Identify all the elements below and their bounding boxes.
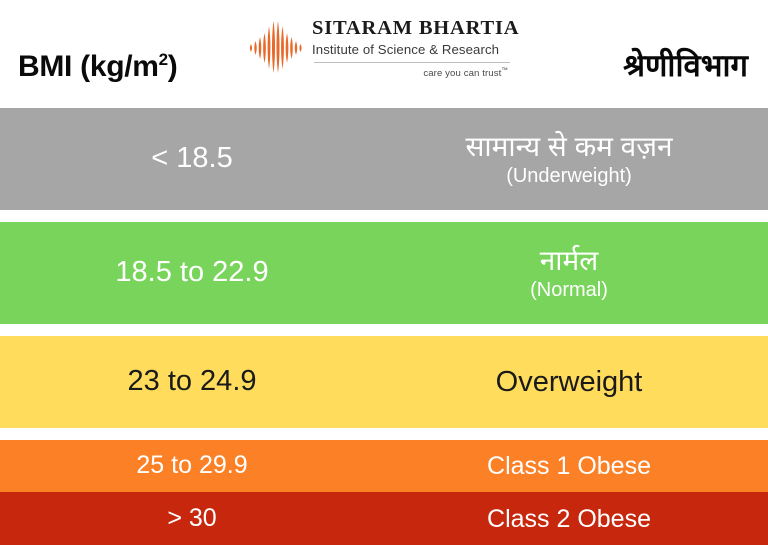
bmi-category-primary: नार्मल [384,244,754,278]
bmi-axis-title-superscript: 2 [159,50,168,69]
bmi-axis-title: BMI (kg/m2) [18,52,178,82]
bmi-band-normal: 18.5 to 22.9 नार्मल (Normal) [0,222,768,324]
bmi-category-label: सामान्य से कम वज़न (Underweight) [384,130,768,188]
sitaram-bhartia-stripes-icon [248,20,306,74]
bmi-band-underweight: < 18.5 सामान्य से कम वज़न (Underweight) [0,108,768,210]
bmi-category-label: नार्मल (Normal) [384,244,768,302]
bmi-range-value: < 18.5 [0,143,384,175]
bmi-category-primary: Class 2 Obese [384,504,754,534]
bmi-band-overweight: 23 to 24.9 Overweight [0,336,768,428]
bmi-category-bands: < 18.5 सामान्य से कम वज़न (Underweight) … [0,108,768,545]
bmi-range-value: > 30 [0,505,384,533]
logo-subtitle: Institute of Science & Research [312,40,514,59]
bmi-band-class-2-obese: > 30 Class 2 Obese [0,492,768,545]
bmi-category-primary: Class 1 Obese [384,451,754,481]
category-column-title: श्रेणीविभाग [623,48,748,84]
bmi-category-primary: सामान्य से कम वज़न [384,130,754,164]
trademark-icon: ™ [501,67,508,74]
logo-tagline-text: care you can trust [423,68,501,79]
logo-name: SITARAM BHARTIA [312,18,514,40]
bmi-band-class-1-obese: 25 to 29.9 Class 1 Obese [0,440,768,492]
logo-text-block: SITARAM BHARTIA Institute of Science & R… [312,18,514,79]
bmi-category-secondary: (Normal) [384,278,754,302]
bmi-axis-title-text: BMI (kg/m [18,50,159,83]
bmi-range-value: 25 to 29.9 [0,452,384,480]
bmi-range-value: 23 to 24.9 [0,366,384,398]
bmi-axis-title-close: ) [168,50,178,83]
chart-header: BMI (kg/m2) [0,0,768,108]
bmi-category-label: Overweight [384,365,768,400]
bmi-category-label: Class 1 Obese [384,451,768,481]
bmi-category-primary: Overweight [384,365,754,400]
sitaram-bhartia-logo: SITARAM BHARTIA Institute of Science & R… [248,18,514,94]
bmi-category-secondary: (Underweight) [384,164,754,188]
logo-divider [314,62,510,63]
logo-tagline: care you can trust™ [312,67,508,79]
bmi-category-label: Class 2 Obese [384,504,768,534]
bmi-range-value: 18.5 to 22.9 [0,257,384,289]
